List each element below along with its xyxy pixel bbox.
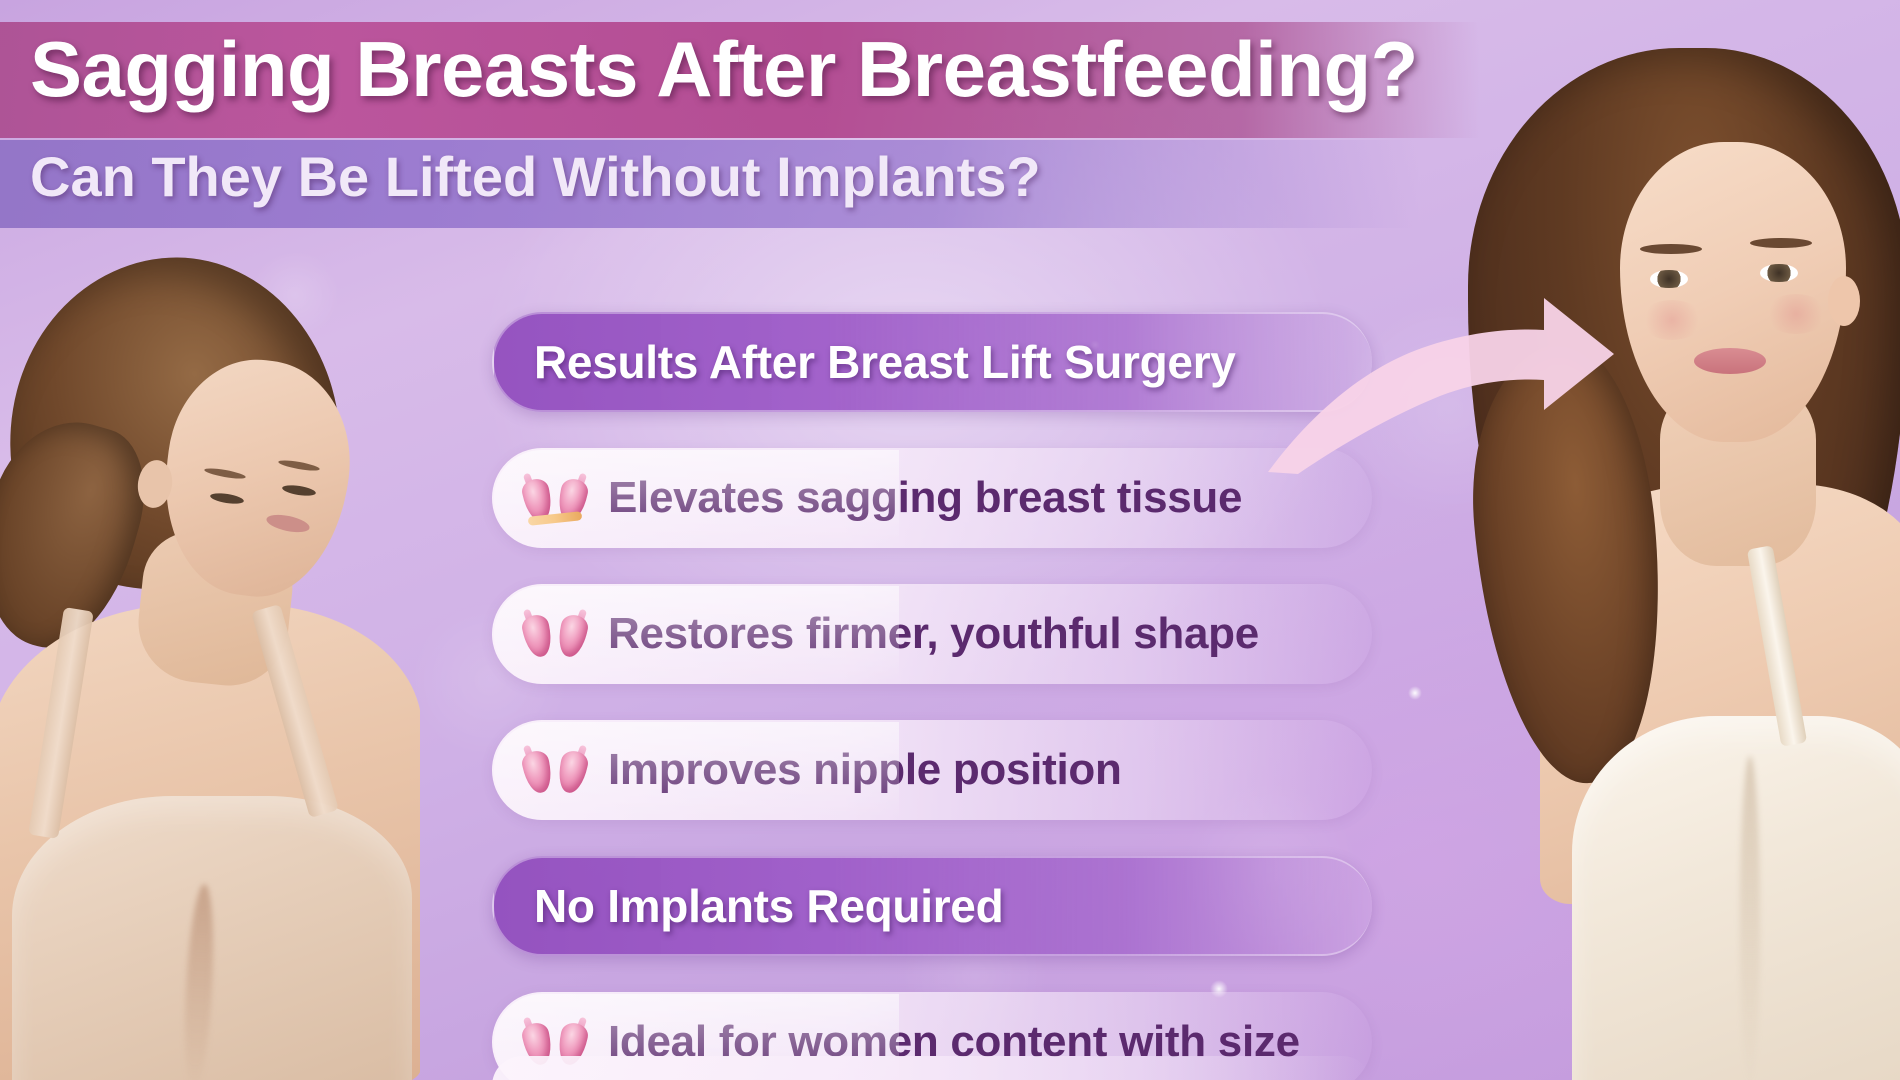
ear: [1828, 276, 1860, 326]
lips: [1694, 348, 1766, 374]
bra-icon: [520, 599, 590, 669]
eyebrow: [1750, 238, 1812, 248]
page-title: Sagging Breasts After Breastfeeding?: [30, 24, 1418, 115]
list-item-cut-off[interactable]: [492, 1056, 1372, 1080]
cleavage-shadow: [1740, 756, 1760, 1080]
before-photo: [0, 248, 420, 1080]
list-header-results[interactable]: Results After Breast Lift Surgery: [492, 312, 1372, 412]
list-item[interactable]: Elevates sagging breast tissue: [492, 448, 1372, 548]
blush: [1640, 300, 1704, 340]
curved-arrow-right-icon: [1262, 276, 1622, 476]
after-photo: [1444, 14, 1900, 1080]
list-item[interactable]: Restores firmer, youthful shape: [492, 584, 1372, 684]
benefits-list: Results After Breast Lift Surgery Elevat…: [492, 312, 1372, 1080]
bra-icon: [520, 735, 590, 805]
page-subtitle: Can They Be Lifted Without Implants?: [30, 144, 1041, 209]
list-item-label: Elevates sagging breast tissue: [608, 473, 1242, 523]
infographic-poster: Sagging Breasts After Breastfeeding? Can…: [0, 0, 1900, 1080]
eye: [1760, 264, 1798, 282]
list-item[interactable]: Improves nipple position: [492, 720, 1372, 820]
list-header-label: No Implants Required: [534, 879, 1003, 933]
sparkle: [1408, 686, 1422, 700]
eye: [1650, 270, 1688, 288]
bra-garment: [1572, 716, 1900, 1080]
eyebrow: [1640, 244, 1702, 254]
list-item-label: Restores firmer, youthful shape: [608, 609, 1259, 659]
list-header-label: Results After Breast Lift Surgery: [534, 335, 1236, 389]
list-header-no-implants[interactable]: No Implants Required: [492, 856, 1372, 956]
bra-icon: [520, 463, 590, 533]
list-item-label: Improves nipple position: [608, 745, 1122, 795]
blush: [1764, 294, 1828, 334]
